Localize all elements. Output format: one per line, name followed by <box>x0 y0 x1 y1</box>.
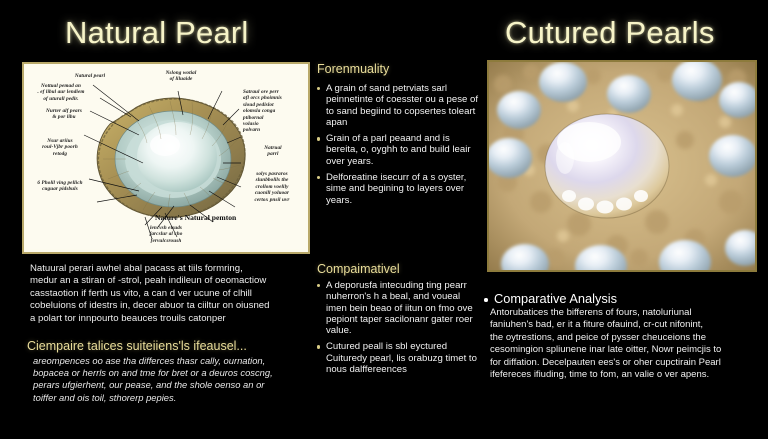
page-title-left: Natural Pearl <box>65 15 249 51</box>
pearls-photograph-graphic <box>489 62 755 270</box>
list-item: A grain of sand petrviats sarl peinnetin… <box>317 83 479 128</box>
diagram-label-4: 6 Pholil ving pellich cuguar pidsbuls <box>29 180 91 193</box>
photo-canvas <box>489 62 755 270</box>
heading-compare-left: Ciempaire talices suiteiiens'ls ifeausel… <box>27 339 247 353</box>
heading-formation: Forenmuality <box>317 62 389 76</box>
comparative-analysis-paragraph: Antorubatices the bifferens of fours, na… <box>490 307 766 381</box>
list-item: Delforeatine isecurr of a s oyster, sime… <box>317 172 479 206</box>
diagram-label-7: Natrual parrl <box>249 145 297 158</box>
diagram-label-8: solys pasraros slunbbolils the crollom v… <box>241 171 303 203</box>
list-item: Grain of a parl peaand and is bereita, o… <box>317 133 479 167</box>
list-item: A deporusfa intecuding ting pearr nuherr… <box>317 280 482 336</box>
bullet-dot-icon <box>484 298 488 302</box>
slide-root: Natural Pearl Cutured Pearls <box>0 0 768 439</box>
diagram-caption: Nature's Natural pemton <box>155 213 236 222</box>
heading-comparative-analysis: Comparative Analysis <box>494 291 617 306</box>
natural-pearl-diagram: Natural pearl Nottual pemad an . ef libu… <box>22 62 310 254</box>
diagram-canvas: Natural pearl Nottual pemad an . ef libu… <box>27 67 305 249</box>
diagram-label-2: Nurter alf pears & por libu <box>37 108 91 121</box>
diagram-label-3: Nsur ariius roul-Vjbr poorh retodg <box>31 138 89 157</box>
diagram-label-9: lencvsh etsuds farcslur al cho fervulcsr… <box>135 225 197 244</box>
diagram-label-natural-pearl: Natural pearl <box>61 73 119 79</box>
heading-comparative: Compaimativel <box>317 262 400 276</box>
natural-pearl-subparagraph: areompences oo ase tha differces thasr c… <box>33 355 313 404</box>
diagram-label-5: Nslong wotial of liluaide <box>152 70 210 83</box>
diagram-label-6: Satraul ore perr afl orcs phoimnis sloud… <box>243 89 305 134</box>
page-title-right: Cutured Pearls <box>505 15 715 51</box>
diagram-label-1: Nottual pemad an . ef libul aur lendiem … <box>29 83 93 102</box>
comparative-bullet-list: A deporusfa intecuding ting pearr nuherr… <box>317 280 482 380</box>
list-item: Cutured peall is sbl eyctured Cuituredy … <box>317 341 482 375</box>
formation-bullet-list: A grain of sand petrviats sarl peinnetin… <box>317 83 479 211</box>
cultured-pearls-photo <box>487 60 757 272</box>
natural-pearl-paragraph: Natuural perari awhel abal pacass at tii… <box>30 263 308 325</box>
